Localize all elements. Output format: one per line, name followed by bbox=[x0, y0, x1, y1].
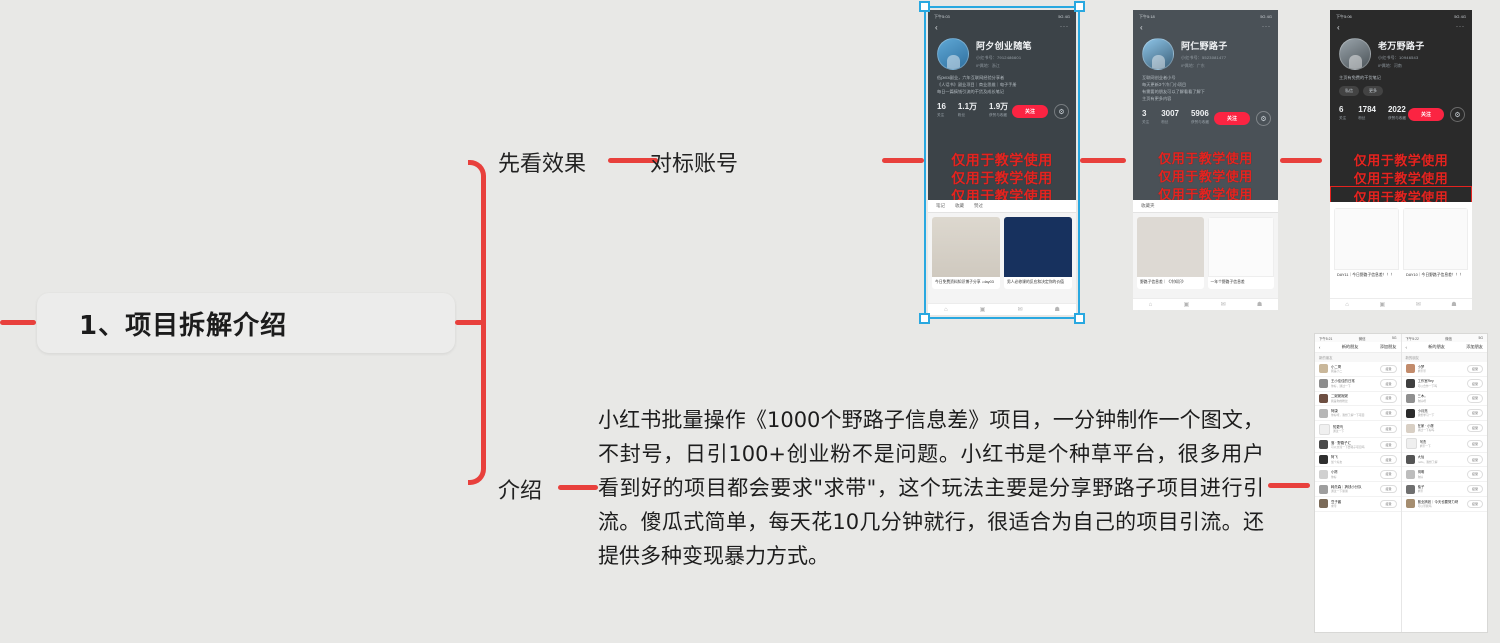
avatar bbox=[1319, 455, 1328, 464]
stat-item: 6 关注 bbox=[1339, 105, 1346, 121]
avatar bbox=[1319, 470, 1328, 479]
accept-button[interactable]: 接受 bbox=[1467, 394, 1483, 402]
stat-item: 16 关注 bbox=[937, 102, 946, 118]
watermark-text: 仅用于教学使用 bbox=[1330, 168, 1472, 187]
stat-label: 关注 bbox=[1142, 120, 1149, 125]
note-card[interactable]: 男人必修课的反应和决定你的价值 bbox=[1004, 217, 1072, 289]
profile-location: IP属地：河南 bbox=[1378, 63, 1425, 69]
status-time: 下午5:22 bbox=[1406, 336, 1419, 341]
avatar bbox=[1319, 379, 1328, 388]
tag-chip[interactable]: 更多 bbox=[1363, 86, 1383, 96]
tag-chip[interactable]: 私信 bbox=[1339, 86, 1359, 96]
list-item[interactable]: 二妮妮妮妮我是你的粉丝 接受 bbox=[1315, 392, 1401, 407]
list-item[interactable]: 阿杰求带一下 接受 bbox=[1402, 436, 1488, 453]
accept-button[interactable]: 接受 bbox=[1467, 379, 1483, 387]
connector-phone2-to-phone3 bbox=[1280, 158, 1322, 163]
contact-message: 你好 bbox=[1331, 475, 1377, 479]
gear-icon[interactable]: ⚙ bbox=[1054, 104, 1069, 119]
note-card-grid: 野路子信息差｜《冷知识》 一年个野路子信息差 bbox=[1133, 213, 1278, 293]
accept-button[interactable]: 接受 bbox=[1380, 485, 1396, 493]
stat-value: 5906 bbox=[1191, 109, 1209, 119]
bio-line: 主页有免费的干货笔记 bbox=[1339, 74, 1463, 81]
stat-label: 粉丝 bbox=[1358, 116, 1376, 121]
list-item[interactable]: 柚子求带 接受 bbox=[1402, 482, 1488, 497]
accept-button[interactable]: 接受 bbox=[1380, 455, 1396, 463]
list-item[interactable]: 知更鸟通过一下 接受 bbox=[1315, 421, 1401, 438]
note-caption: 野路子信息差｜《冷知识》 bbox=[1137, 277, 1204, 289]
list-header: ‹ 新的朋友 添加朋友 bbox=[1315, 342, 1401, 353]
contact-message: 求带 bbox=[1418, 489, 1464, 493]
feed-section: DAY11｜今日野路子信息差！！！ DAY10｜今日野路子信息差！！！ ⌂ ▣ … bbox=[1330, 202, 1472, 310]
accept-button[interactable]: 接受 bbox=[1467, 470, 1483, 478]
profile-location: IP属地：浙江 bbox=[976, 63, 1032, 69]
status-time: 下午5:21 bbox=[1319, 336, 1332, 341]
status-indicators: 5G 4G bbox=[1454, 14, 1466, 19]
status-time: 下午5:06 bbox=[1336, 14, 1352, 20]
status-indicators: 5G bbox=[1478, 336, 1483, 340]
back-icon[interactable]: ‹ bbox=[1140, 23, 1143, 32]
profile-name: 阿夕创业随笔 bbox=[976, 39, 1032, 52]
list-item[interactable]: 王小佳佳的日常你好，通过一下 接受 bbox=[1315, 377, 1401, 392]
profile-stats: 6 关注 1784 粉丝 2022 获赞与收藏 关注 ⚙ bbox=[1330, 96, 1472, 121]
status-bar: 下午5:18 5G 4G bbox=[1133, 10, 1278, 21]
list-item[interactable]: 三木。你好呀 接受 bbox=[1402, 392, 1488, 407]
profile-stats: 16 关注 1.1万 粉丝 1.9万 获赞与收藏 关注 ⚙ bbox=[928, 97, 1076, 118]
list-pane: 下午5:22 微信 5G ‹ 新的朋友 添加朋友 新的朋友 小梦求带带 接受 工… bbox=[1402, 334, 1488, 632]
list-item[interactable]: 大仙hello，我想了解 接受 bbox=[1402, 453, 1488, 468]
stat-item: 1784 粉丝 bbox=[1358, 105, 1376, 121]
avatar bbox=[1406, 424, 1415, 433]
note-card[interactable]: DAY11｜今日野路子信息差！！！ bbox=[1334, 208, 1399, 282]
branch-label-intro[interactable]: 介绍 bbox=[498, 473, 542, 505]
status-bar: 下午5:03 5G 4G bbox=[928, 10, 1076, 21]
profile-location: IP属地：广东 bbox=[1181, 63, 1228, 69]
stat-label: 获赞与收藏 bbox=[1191, 120, 1209, 125]
message-icon[interactable]: ✉ bbox=[1221, 301, 1226, 308]
profile-bio: 互联网创业者小号 每天更新3个冷门小项目 有需要的朋友可以了解看看了解下 主页有… bbox=[1133, 72, 1278, 104]
contact-message: 可以带我吗 bbox=[1418, 504, 1464, 508]
follower-list-screenshot[interactable]: 下午5:21 微信 5G ‹ 新的朋友 添加朋友 新的朋友 小二哥我是小二 接受… bbox=[1314, 333, 1488, 633]
stat-label: 关注 bbox=[937, 113, 946, 118]
note-card[interactable]: 一年个野路子信息差 bbox=[1208, 217, 1275, 289]
shop-icon[interactable]: ▣ bbox=[1379, 301, 1385, 308]
phone-screenshot-1[interactable]: 下午5:03 5G 4G ‹ ··· 阿夕创业随笔 小红书号：791248660… bbox=[928, 10, 1076, 315]
note-caption: 今日免费资料知识博子分享 ↓day03 bbox=[932, 277, 1000, 289]
list-title: 新的朋友 bbox=[1428, 344, 1445, 350]
nav-row: ‹ ··· bbox=[1133, 21, 1278, 33]
note-caption: DAY10｜今日野路子信息差！！！ bbox=[1403, 270, 1468, 282]
accept-button[interactable]: 接受 bbox=[1467, 409, 1483, 417]
gear-icon[interactable]: ⚙ bbox=[1256, 111, 1271, 126]
feed-tab[interactable]: 收藏夹 bbox=[1141, 203, 1155, 209]
accept-button[interactable]: 接受 bbox=[1380, 470, 1396, 478]
stat-item: 1.1万 粉丝 bbox=[958, 102, 977, 118]
stat-value: 3007 bbox=[1161, 109, 1179, 119]
profile-header: 阿夕创业随笔 小红书号：7912486601 IP属地：浙江 bbox=[928, 33, 1076, 72]
back-icon[interactable]: ‹ bbox=[1337, 23, 1340, 32]
back-icon[interactable]: ‹ bbox=[1406, 345, 1407, 350]
back-icon[interactable]: ‹ bbox=[1319, 345, 1320, 350]
resize-handle-bottom-right[interactable] bbox=[1074, 313, 1085, 324]
profile-icon[interactable]: ☗ bbox=[1451, 301, 1456, 308]
stat-item: 5906 获赞与收藏 bbox=[1191, 109, 1209, 125]
list-section-header: 新的朋友 bbox=[1402, 353, 1488, 362]
profile-id: 小红书号：7912486601 bbox=[976, 55, 1032, 61]
contact-message: 通过一下谢谢 bbox=[1331, 489, 1377, 493]
contact-message: 你好呀，我想了解一下项目 bbox=[1331, 413, 1377, 417]
watermark-text: 仅用于教学使用 bbox=[1133, 148, 1278, 167]
message-icon[interactable]: ✉ bbox=[1017, 306, 1022, 313]
connector-paragraph-to-list bbox=[1268, 483, 1310, 488]
avatar bbox=[1406, 438, 1417, 449]
avatar bbox=[1406, 394, 1415, 403]
avatar bbox=[1406, 379, 1415, 388]
avatar bbox=[1406, 364, 1415, 373]
avatar bbox=[1406, 485, 1415, 494]
avatar bbox=[1319, 485, 1328, 494]
nav-row: ‹ ··· bbox=[1330, 21, 1472, 33]
contact-message: 求带 bbox=[1331, 504, 1377, 508]
profile-bio: 主页有免费的干货笔记 bbox=[1330, 72, 1472, 83]
stat-item: 3 关注 bbox=[1142, 109, 1149, 125]
profile-name: 老万野路子 bbox=[1378, 39, 1425, 52]
stat-label: 粉丝 bbox=[1161, 120, 1179, 125]
feed-tabs[interactable]: 收藏夹 bbox=[1133, 200, 1278, 213]
stat-item: 1.9万 获赞与收藏 bbox=[989, 102, 1008, 118]
note-card[interactable]: 今日免费资料知识博子分享 ↓day03 bbox=[932, 217, 1000, 289]
stat-value: 16 bbox=[937, 102, 946, 112]
note-card[interactable]: DAY10｜今日野路子信息差！！！ bbox=[1403, 208, 1468, 282]
gear-icon[interactable]: ⚙ bbox=[1450, 107, 1465, 122]
accept-button[interactable]: 接受 bbox=[1380, 500, 1396, 508]
profile-bio: 低риск副业，六年互联网经验分享者 《人话书》副业项目｜商业思维｜电子手册 每… bbox=[928, 72, 1076, 97]
shop-icon[interactable]: ▣ bbox=[1184, 301, 1190, 308]
contact-message: 通过一下 bbox=[1333, 429, 1377, 433]
note-caption: 男人必修课的反应和决定你的价值 bbox=[1004, 277, 1072, 289]
list-section-header: 新的朋友 bbox=[1315, 353, 1401, 362]
follow-button[interactable]: 关注 bbox=[1012, 105, 1048, 118]
profile-icon[interactable]: ☗ bbox=[1055, 306, 1060, 313]
note-card-grid: DAY11｜今日野路子信息差！！！ DAY10｜今日野路子信息差！！！ bbox=[1330, 202, 1472, 286]
bio-line: 低риск副业，六年互联网经验分享者 bbox=[937, 74, 1067, 81]
contact-message: 你好呀 bbox=[1418, 399, 1464, 403]
bio-line: 主页有更多内容 bbox=[1142, 95, 1269, 102]
bio-line: 互联网创业者小号 bbox=[1142, 74, 1269, 81]
stat-value: 1.9万 bbox=[989, 102, 1008, 112]
avatar[interactable] bbox=[1339, 38, 1371, 70]
connector-intro-to-paragraph bbox=[558, 485, 598, 490]
connector-phone1-to-phone2 bbox=[1080, 158, 1126, 163]
avatar bbox=[1406, 470, 1415, 479]
connector-account-to-phone1 bbox=[882, 158, 924, 163]
accept-button[interactable]: 接受 bbox=[1467, 485, 1483, 493]
note-thumbnail bbox=[1004, 217, 1072, 277]
accept-button[interactable]: 接受 bbox=[1467, 455, 1483, 463]
more-horizontal-icon[interactable]: ··· bbox=[1060, 24, 1069, 30]
accept-button[interactable]: 接受 bbox=[1380, 394, 1396, 402]
feed-tab[interactable]: 收藏 bbox=[955, 203, 964, 209]
avatar bbox=[1319, 364, 1328, 373]
bottom-tab-bar[interactable]: ⌂ ▣ ✉ ☗ bbox=[928, 303, 1076, 315]
status-app: 微信 bbox=[1359, 336, 1366, 341]
bio-line: 每天更新3个冷门小项目 bbox=[1142, 81, 1269, 88]
status-time: 下午5:18 bbox=[1139, 14, 1155, 20]
stat-value: 6 bbox=[1339, 105, 1346, 115]
watermark-text: 仅用于教学使用 bbox=[1133, 166, 1278, 185]
profile-icon[interactable]: ☗ bbox=[1257, 301, 1262, 308]
avatar[interactable] bbox=[937, 38, 969, 70]
contact-message: 求带一下 bbox=[1420, 444, 1464, 448]
phone-screenshot-3[interactable]: 下午5:06 5G 4G ‹ ··· 老万野路子 小红书号：10946543 I… bbox=[1330, 10, 1472, 310]
list-item[interactable]: 阿康你好呀，我想了解一下项目 接受 bbox=[1315, 406, 1401, 421]
list-title: 新的朋友 bbox=[1342, 344, 1359, 350]
profile-header: 老万野路子 小红书号：10946543 IP属地：河南 bbox=[1330, 33, 1472, 72]
watermark-text: 仅用于教学使用 bbox=[1330, 150, 1472, 169]
accept-button[interactable]: 接受 bbox=[1380, 379, 1396, 387]
avatar bbox=[1319, 499, 1328, 508]
stat-label: 获赞与收藏 bbox=[1388, 116, 1406, 121]
avatar bbox=[1406, 455, 1415, 464]
more-horizontal-icon[interactable]: ··· bbox=[1456, 24, 1465, 30]
contact-message: 我是你的粉丝 bbox=[1331, 399, 1377, 403]
contact-message: 加个好友 bbox=[1331, 460, 1377, 464]
stat-label: 关注 bbox=[1339, 116, 1346, 121]
nav-row: ‹ ··· bbox=[928, 21, 1076, 33]
avatar[interactable] bbox=[1142, 38, 1174, 70]
bio-line: 有需要的朋友可以了解看看了解下 bbox=[1142, 88, 1269, 95]
avatar bbox=[1406, 409, 1415, 418]
list-header: ‹ 新的朋友 添加朋友 bbox=[1402, 342, 1488, 353]
home-icon[interactable]: ⌂ bbox=[1149, 302, 1153, 308]
stat-item: 3007 粉丝 bbox=[1161, 109, 1179, 125]
list-item[interactable]: 韩先森｜搞钱小分队通过一下谢谢 接受 bbox=[1315, 482, 1401, 497]
home-icon[interactable]: ⌂ bbox=[1345, 302, 1349, 308]
phone-screenshot-2[interactable]: 下午5:18 5G 4G ‹ ··· 阿仁野路子 小红书号：5523081477… bbox=[1133, 10, 1278, 310]
list-item[interactable]: 小梦求带带 接受 bbox=[1402, 362, 1488, 377]
list-pane: 下午5:21 微信 5G ‹ 新的朋友 添加朋友 新的朋友 小二哥我是小二 接受… bbox=[1315, 334, 1402, 632]
status-bar: 下午5:22 微信 5G bbox=[1402, 334, 1488, 342]
stat-value: 1784 bbox=[1358, 105, 1376, 115]
accept-button[interactable]: 接受 bbox=[1467, 365, 1483, 373]
note-caption: 一年个野路子信息差 bbox=[1208, 277, 1275, 289]
accept-button[interactable]: 接受 bbox=[1467, 424, 1483, 432]
status-app: 微信 bbox=[1445, 336, 1452, 341]
avatar bbox=[1319, 394, 1328, 403]
note-card[interactable]: 野路子信息差｜《冷知识》 bbox=[1137, 217, 1204, 289]
list-item[interactable]: 落 · 野路子汇可以交流一下野路子项目吗 接受 bbox=[1315, 438, 1401, 453]
profile-name: 阿仁野路子 bbox=[1181, 39, 1228, 52]
list-item[interactable]: 明明你好 接受 bbox=[1402, 467, 1488, 482]
list-item[interactable]: 阿飞加个好友 接受 bbox=[1315, 453, 1401, 468]
resize-handle-top-left[interactable] bbox=[919, 1, 930, 12]
avatar bbox=[1319, 424, 1330, 435]
note-thumbnail bbox=[1334, 208, 1399, 270]
contact-message: 通过一下好吗 bbox=[1418, 428, 1464, 432]
contact-message: hello，我想了解 bbox=[1418, 460, 1464, 464]
feed-section: 收藏夹 野路子信息差｜《冷知识》 一年个野路子信息差 ⌂ ▣ ✉ ☗ bbox=[1133, 200, 1278, 310]
status-time: 下午5:03 bbox=[934, 14, 950, 20]
avatar bbox=[1319, 409, 1328, 418]
list-item[interactable]: 在家 · 小陈通过一下好吗 接受 bbox=[1402, 421, 1488, 436]
bio-line: 每日一篇搞钱引流的干货及成长笔记 bbox=[937, 88, 1067, 95]
branch-label-benchmark-account[interactable]: 对标账号 bbox=[650, 146, 738, 178]
branch-label-effect[interactable]: 先看效果 bbox=[498, 146, 586, 178]
follow-button[interactable]: 关注 bbox=[1408, 108, 1444, 121]
back-icon[interactable]: ‹ bbox=[935, 23, 938, 32]
stat-value: 3 bbox=[1142, 109, 1149, 119]
profile-id: 小红书号：5523081477 bbox=[1181, 55, 1228, 61]
profile-header: 阿仁野路子 小红书号：5523081477 IP属地：广东 bbox=[1133, 33, 1278, 72]
follow-button[interactable]: 关注 bbox=[1214, 112, 1250, 125]
resize-handle-top-right[interactable] bbox=[1074, 1, 1085, 12]
feed-tabs[interactable]: 笔记 收藏 赞过 bbox=[928, 200, 1076, 213]
list-item[interactable]: 小陈你好 接受 bbox=[1315, 467, 1401, 482]
accept-button[interactable]: 接受 bbox=[1467, 500, 1483, 508]
status-indicators: 5G 4G bbox=[1260, 14, 1272, 19]
note-card-grid: 今日免费资料知识博子分享 ↓day03 男人必修课的反应和决定你的价值 bbox=[928, 213, 1076, 293]
accept-button[interactable]: 接受 bbox=[1467, 440, 1483, 448]
note-thumbnail bbox=[1137, 217, 1204, 277]
stat-value: 1.1万 bbox=[958, 102, 977, 112]
stat-label: 获赞与收藏 bbox=[989, 113, 1008, 118]
home-icon[interactable]: ⌂ bbox=[944, 307, 948, 313]
avatar bbox=[1406, 499, 1415, 508]
feed-tab[interactable]: 赞过 bbox=[974, 203, 983, 209]
stat-item: 2022 获赞与收藏 bbox=[1388, 105, 1406, 121]
contact-message: 你好 bbox=[1418, 475, 1464, 479]
more-horizontal-icon[interactable]: ··· bbox=[1262, 24, 1271, 30]
contact-message: 可以合作一下吗 bbox=[1418, 384, 1464, 388]
accept-button[interactable]: 接受 bbox=[1380, 409, 1396, 417]
note-thumbnail bbox=[1208, 217, 1275, 277]
avatar bbox=[1319, 440, 1328, 449]
watermark-text: 仅用于教学使用 bbox=[928, 168, 1076, 188]
root-node-label: 1、项目拆解介绍 bbox=[37, 305, 287, 342]
profile-stats: 3 关注 3007 粉丝 5906 获赞与收藏 关注 ⚙ bbox=[1133, 104, 1278, 125]
status-indicators: 5G bbox=[1392, 336, 1397, 340]
note-caption: DAY11｜今日野路子信息差！！！ bbox=[1334, 270, 1399, 282]
status-bar: 下午5:06 5G 4G bbox=[1330, 10, 1472, 21]
list-item[interactable]: 豆子酱求带 接受 bbox=[1315, 497, 1401, 512]
status-indicators: 5G 4G bbox=[1058, 14, 1070, 19]
accept-button[interactable]: 接受 bbox=[1380, 425, 1396, 433]
profile-id: 小红书号：10946543 bbox=[1378, 55, 1425, 61]
resize-handle-bottom-left[interactable] bbox=[919, 313, 930, 324]
contact-message: 我是小二 bbox=[1331, 369, 1377, 373]
feed-section: 笔记 收藏 赞过 今日免费资料知识博子分享 ↓day03 男人必修课的反应和决定… bbox=[928, 200, 1076, 315]
contact-message: 我想学习一下 bbox=[1418, 413, 1464, 417]
bottom-tab-bar[interactable]: ⌂ ▣ ✉ ☗ bbox=[1330, 298, 1472, 310]
note-thumbnail bbox=[932, 217, 1000, 277]
list-item[interactable]: 小二哥我是小二 接受 bbox=[1315, 362, 1401, 377]
watermark-text: 仅用于教学使用 bbox=[928, 150, 1076, 170]
stat-label: 粉丝 bbox=[958, 113, 977, 118]
accept-button[interactable]: 接受 bbox=[1380, 441, 1396, 449]
feed-tab[interactable]: 笔记 bbox=[936, 203, 945, 209]
add-friend-button[interactable]: 添加朋友 bbox=[1380, 344, 1397, 350]
bio-line: 《人话书》副业项目｜商业思维｜电子手册 bbox=[937, 81, 1067, 88]
list-item[interactable]: 小月亮我想学习一下 接受 bbox=[1402, 406, 1488, 421]
bottom-tab-bar[interactable]: ⌂ ▣ ✉ ☗ bbox=[1133, 298, 1278, 310]
list-item[interactable]: 工作室Rey可以合作一下吗 接受 bbox=[1402, 377, 1488, 392]
contact-message: 求带带 bbox=[1418, 369, 1464, 373]
accept-button[interactable]: 接受 bbox=[1380, 365, 1396, 373]
list-item[interactable]: 副业搞钱｜今天也要努力呀可以带我吗 接受 bbox=[1402, 497, 1488, 512]
add-friend-button[interactable]: 添加朋友 bbox=[1466, 344, 1483, 350]
mindmap-canvas: 1、项目拆解介绍 先看效果 对标账号 介绍 小红书批量操作《1000个野路子信息… bbox=[0, 0, 1500, 643]
stat-value: 2022 bbox=[1388, 105, 1406, 115]
root-left-stub bbox=[0, 320, 36, 325]
status-bar: 下午5:21 微信 5G bbox=[1315, 334, 1401, 342]
shop-icon[interactable]: ▣ bbox=[980, 306, 986, 313]
root-branch-bracket bbox=[468, 160, 486, 485]
root-node[interactable]: 1、项目拆解介绍 bbox=[37, 293, 455, 353]
note-thumbnail bbox=[1403, 208, 1468, 270]
profile-tags: 私信 更多 bbox=[1330, 83, 1472, 96]
intro-paragraph: 小红书批量操作《1000个野路子信息差》项目，一分钟制作一个图文，不封号，日引1… bbox=[598, 403, 1264, 573]
contact-message: 你好，通过一下 bbox=[1331, 384, 1377, 388]
message-icon[interactable]: ✉ bbox=[1416, 301, 1421, 308]
contact-message: 可以交流一下野路子项目吗 bbox=[1331, 445, 1377, 449]
